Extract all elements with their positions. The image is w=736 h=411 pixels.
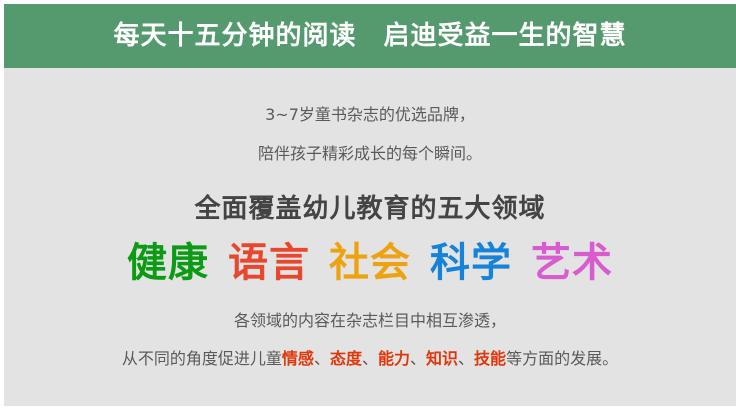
tail-line-2: 从不同的角度促进儿童 情感 、 态度 、 能力 、 知识 、 技能 等方面的发展… xyxy=(122,351,618,367)
tail-prefix: 从不同的角度促进儿童 xyxy=(122,351,282,367)
section-headline: 全面覆盖幼儿教育的五大领域 xyxy=(194,196,545,222)
tail-suffix: 等方面的发展。 xyxy=(506,351,618,367)
tail-emphasis-skill: 技能 xyxy=(474,351,506,367)
lead-line-1: 3~7岁童书杂志的优选品牌， xyxy=(265,107,475,123)
tail-line-1: 各领域的内容在杂志栏目中相互渗透， xyxy=(234,313,506,329)
tail-emphasis-ability: 能力 xyxy=(378,351,410,367)
domain-word-list: 健康 语言 社会 科学 艺术 xyxy=(127,243,613,283)
domain-word-science: 科学 xyxy=(430,243,512,283)
body-panel: 3~7岁童书杂志的优选品牌， 陪伴孩子精彩成长的每个瞬间。 全面覆盖幼儿教育的五… xyxy=(4,68,736,406)
tail-separator-1: 、 xyxy=(314,351,330,367)
domain-word-language: 语言 xyxy=(228,243,310,283)
tail-separator-3: 、 xyxy=(410,351,426,367)
domain-word-art: 艺术 xyxy=(531,243,613,283)
tail-separator-2: 、 xyxy=(362,351,378,367)
lead-line-2: 陪伴孩子精彩成长的每个瞬间。 xyxy=(258,146,482,162)
poster-root: 每天十五分钟的阅读 启迪受益一生的智慧 3~7岁童书杂志的优选品牌， 陪伴孩子精… xyxy=(0,0,736,411)
banner-title: 每天十五分钟的阅读 启迪受益一生的智慧 xyxy=(113,23,626,49)
domain-word-society: 社会 xyxy=(329,243,411,283)
tail-emphasis-attitude: 态度 xyxy=(330,351,362,367)
tail-emphasis-knowledge: 知识 xyxy=(426,351,458,367)
domain-word-health: 健康 xyxy=(127,243,209,283)
green-banner: 每天十五分钟的阅读 启迪受益一生的智慧 xyxy=(4,4,736,68)
tail-emphasis-emotion: 情感 xyxy=(282,351,314,367)
tail-separator-4: 、 xyxy=(458,351,474,367)
